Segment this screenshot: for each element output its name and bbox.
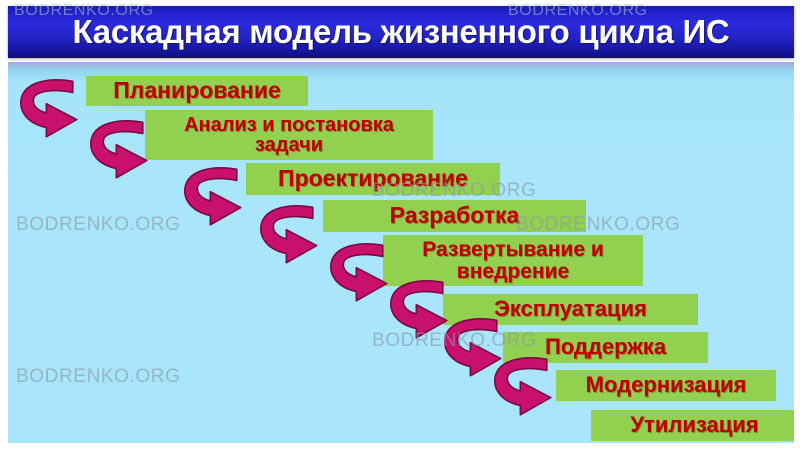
diagram-layers: ПланированиеАнализ и постановка задачиПр… bbox=[8, 62, 794, 443]
stage-box-планирование: Планирование bbox=[86, 76, 308, 106]
stage-label: Эксплуатация bbox=[494, 298, 647, 320]
stage-label: Модернизация bbox=[586, 374, 747, 396]
arrow-development-to-deploy-icon bbox=[256, 202, 322, 268]
stage-label: Утилизация bbox=[630, 414, 758, 436]
arrow-plan-to-analysis-icon bbox=[16, 76, 82, 142]
arrow-design-to-development-icon bbox=[180, 164, 246, 230]
diagram-canvas: ПланированиеАнализ и постановка задачиПр… bbox=[8, 62, 794, 443]
stage-label: Поддержка bbox=[545, 336, 666, 358]
arrow-deploy-to-operation-icon bbox=[326, 240, 392, 306]
stage-label: Развертывание и внедрение bbox=[389, 239, 637, 282]
stage-box-разработка: Разработка bbox=[323, 200, 586, 232]
watermark: BODRENKO.ORG bbox=[16, 366, 181, 388]
stage-box-модернизация: Модернизация bbox=[556, 370, 776, 401]
arrow-analysis-to-design-icon bbox=[86, 117, 152, 183]
stage-label: Анализ и постановка задачи bbox=[151, 115, 427, 156]
stage-box-утилизация: Утилизация bbox=[591, 410, 794, 441]
slide: Каскадная модель жизненного цикла ИС Пла… bbox=[0, 0, 802, 451]
arrow-modernization-to-dispose-icon bbox=[490, 354, 556, 420]
stage-label: Проектирование bbox=[278, 167, 468, 190]
stage-label: Планирование bbox=[113, 79, 281, 102]
stage-box-анализ-и-постановка-задачи: Анализ и постановка задачи bbox=[145, 110, 433, 160]
stage-box-проектирование: Проектирование bbox=[246, 163, 500, 195]
page-title: Каскадная модель жизненного цикла ИС bbox=[8, 6, 794, 58]
title-bar: Каскадная модель жизненного цикла ИС bbox=[8, 6, 794, 58]
watermark: BODRENKO.ORG bbox=[16, 214, 181, 236]
stage-label: Разработка bbox=[390, 204, 520, 227]
